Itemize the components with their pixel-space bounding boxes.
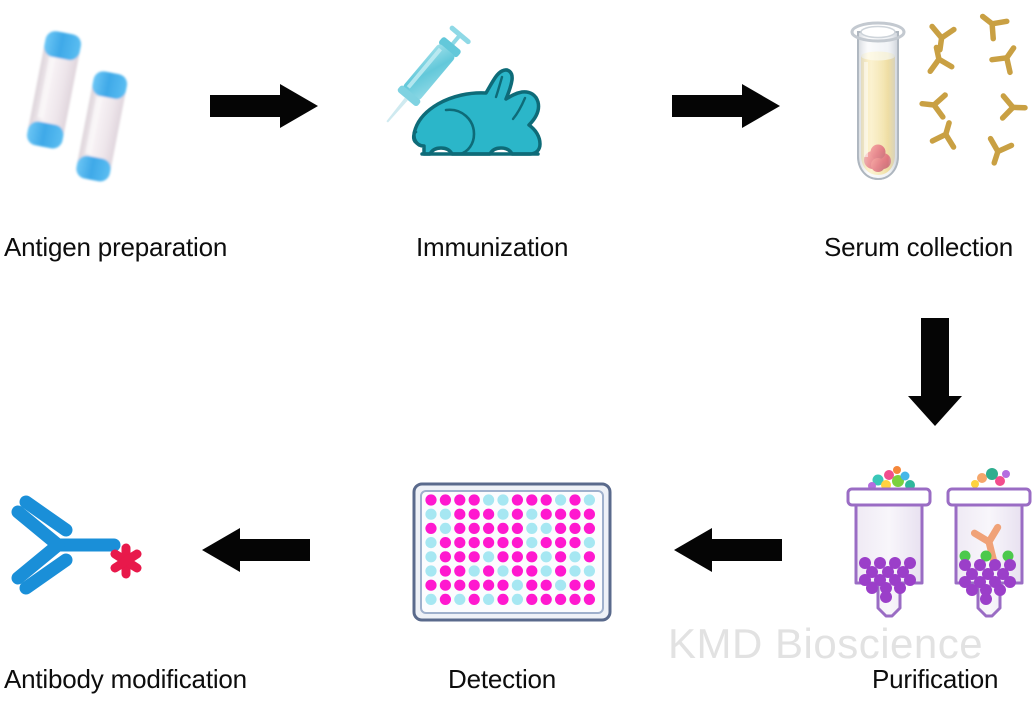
microplate-well (425, 523, 436, 534)
microplate-well (497, 537, 508, 548)
microplate-well (469, 494, 480, 505)
microplate-well (440, 494, 451, 505)
antibody-shape (18, 502, 114, 588)
microplate-well (526, 580, 537, 591)
microplate-well (584, 494, 595, 505)
microplate-well (512, 537, 523, 548)
microplate-well (526, 551, 537, 562)
microplate-well (541, 580, 552, 591)
microplate-well (483, 594, 494, 605)
microplate-well (440, 580, 451, 591)
microplate-well (555, 523, 566, 534)
microplate-well (541, 565, 552, 576)
labeled-antibody-icon (6, 490, 156, 600)
microplate-well (584, 509, 595, 520)
antibody-cluster (921, 8, 1025, 167)
microplate-well (440, 523, 451, 534)
microplate-well (555, 565, 566, 576)
microplate-well (497, 523, 508, 534)
microplate-well (526, 509, 537, 520)
microplate-well (454, 537, 465, 548)
cryovial-left (25, 29, 82, 150)
microplate-well (584, 594, 595, 605)
microplate-well (440, 537, 451, 548)
label-antibody-modification: Antibody modification (4, 664, 247, 695)
microplate-well (469, 594, 480, 605)
microplate-well (569, 580, 580, 591)
microplate-well (454, 594, 465, 605)
microplate-well (440, 594, 451, 605)
microplate-well (541, 551, 552, 562)
microplate-well (569, 537, 580, 548)
microplate-well (497, 494, 508, 505)
microplate-well (584, 537, 595, 548)
microplate-well (555, 551, 566, 562)
microplate-well (497, 580, 508, 591)
arrow-detection-to-modification (200, 526, 310, 574)
microplate-well (512, 494, 523, 505)
microplate-well (469, 523, 480, 534)
microplate-well (454, 494, 465, 505)
cryovial-right (75, 70, 129, 183)
microplate-well (569, 509, 580, 520)
microplate-well (512, 580, 523, 591)
microplate-well (555, 537, 566, 548)
purification-columns-icon (842, 468, 1035, 628)
microplate-well (469, 565, 480, 576)
microplate-well (469, 551, 480, 562)
microplate-well (555, 509, 566, 520)
microplate-well (483, 537, 494, 548)
microplate-well (440, 565, 451, 576)
microplate-well (454, 523, 465, 534)
label-immunization: Immunization (416, 232, 568, 263)
microplate-well (526, 494, 537, 505)
serum-tube-icon (845, 14, 1035, 194)
microplate-well (541, 494, 552, 505)
label-star-icon (115, 548, 137, 574)
microplate-well (526, 537, 537, 548)
purification-column-left (848, 466, 930, 616)
microplate-well (541, 509, 552, 520)
microplate-well (469, 509, 480, 520)
microplate-well (469, 580, 480, 591)
microplate-well (483, 580, 494, 591)
microplate-well (454, 565, 465, 576)
sample-mixture-left (868, 466, 915, 490)
microplate-well (497, 551, 508, 562)
label-detection: Detection (448, 664, 556, 695)
microplate-well (483, 551, 494, 562)
microplate-well (483, 509, 494, 520)
microplate-well (584, 580, 595, 591)
arrow-purification-to-detection (672, 526, 782, 574)
microplate-well (425, 594, 436, 605)
microplate-well (483, 494, 494, 505)
microplate-well (425, 551, 436, 562)
microplate-well (584, 551, 595, 562)
microplate-well (541, 523, 552, 534)
watermark-kmd-bioscience: KMD Bioscience (668, 620, 983, 668)
label-serum-collection: Serum collection (824, 232, 1013, 263)
microplate-well (425, 537, 436, 548)
microplate-well (497, 594, 508, 605)
microplate-well (440, 509, 451, 520)
microplate-well (454, 551, 465, 562)
microplate-well (555, 494, 566, 505)
rabbit-syringe-icon (390, 18, 590, 193)
microplate-well (569, 565, 580, 576)
microplate-well (569, 494, 580, 505)
label-purification: Purification (872, 664, 998, 695)
microplate-well (512, 509, 523, 520)
microplate-well (541, 594, 552, 605)
microplate-well (425, 565, 436, 576)
arrow-antigen-to-immunization (210, 82, 320, 130)
microplate-well (541, 537, 552, 548)
microplate-well (512, 551, 523, 562)
arrow-serum-to-purification (905, 318, 965, 428)
microplate-well (483, 565, 494, 576)
microplate-well (425, 509, 436, 520)
microplate-well (497, 565, 508, 576)
microplate-well (569, 594, 580, 605)
microplate-well (555, 594, 566, 605)
microplate-well (569, 523, 580, 534)
microplate-well (425, 494, 436, 505)
microplate-well (526, 594, 537, 605)
microplate-well (469, 537, 480, 548)
microplate-well (512, 565, 523, 576)
sample-mixture-right (971, 468, 1010, 488)
microplate-well (483, 523, 494, 534)
microplate-well (497, 509, 508, 520)
microplate-icon (412, 482, 612, 622)
microplate-well (555, 580, 566, 591)
purification-column-right (948, 468, 1030, 616)
microplate-well (454, 509, 465, 520)
microplate-well (454, 580, 465, 591)
microplate-well (584, 523, 595, 534)
arrow-immunization-to-serum (672, 82, 782, 130)
microplate-well (425, 580, 436, 591)
microplate-well (512, 523, 523, 534)
microplate-well (526, 523, 537, 534)
workflow-diagram: Antigen preparation (0, 0, 1035, 720)
microplate-well (569, 551, 580, 562)
label-antigen-preparation: Antigen preparation (4, 232, 227, 263)
cryovials-icon (10, 18, 140, 188)
microplate-well (584, 565, 595, 576)
microplate-well (512, 594, 523, 605)
microplate-well (526, 565, 537, 576)
microplate-well (440, 551, 451, 562)
